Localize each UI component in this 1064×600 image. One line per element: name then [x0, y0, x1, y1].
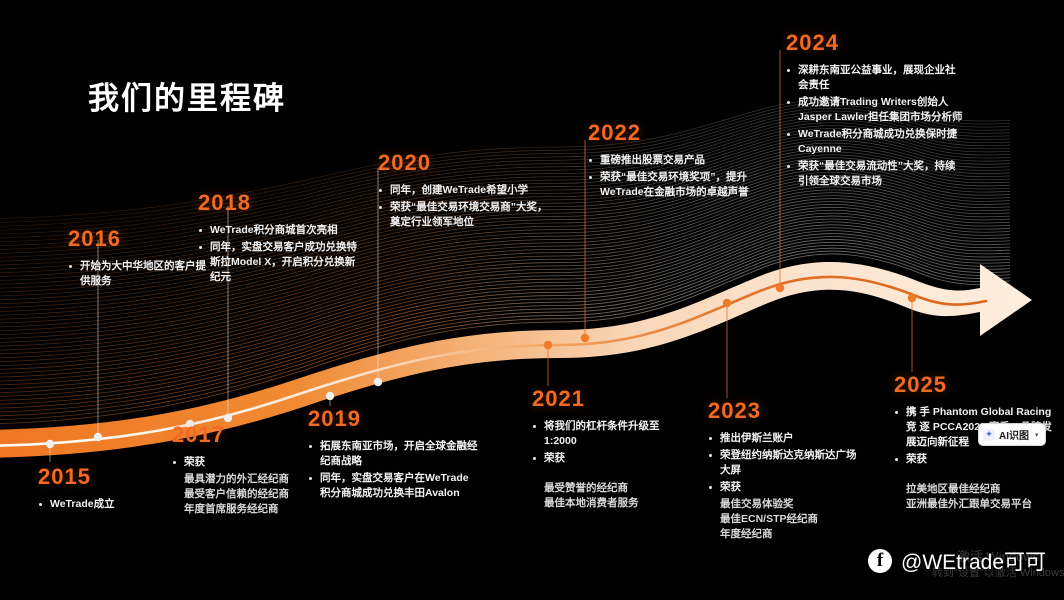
milestone-bullets-2018: WeTrade积分商城首次亮相 同年，实盘交易客户成功兑换特斯拉Model X，…: [198, 223, 358, 285]
milestone-node-dot: [544, 341, 552, 349]
milestone-year-2017: 2017: [172, 424, 324, 446]
milestone-node-dot: [326, 392, 334, 400]
milestone-2023: 2023 推出伊斯兰账户 荣登纽约纳斯达克纳斯达广场大屏 荣获 最佳交易体验奖 …: [708, 400, 858, 542]
milestone-bullets-2024: 深耕东南亚公益事业，展现企业社会责任 成功邀请Trading Writers创始…: [786, 63, 964, 189]
list-item: 荣获: [532, 451, 682, 466]
subline: 最佳ECN/STP经纪商: [708, 512, 858, 527]
subline: 最受客户信赖的经纪商: [172, 487, 324, 502]
milestone-year-2018: 2018: [198, 192, 358, 214]
milestone-node-dot: [723, 299, 731, 307]
list-item: 同年，实盘交易客户在WeTrade积分商城成功兑换丰田Avalon: [308, 471, 478, 501]
list-item: 荣获: [708, 480, 858, 495]
list-item: 重磅推出股票交易产品: [588, 153, 768, 168]
sparkle-icon: ✦: [983, 429, 995, 441]
list-item: 将我们的杠杆条件升级至1:2000: [532, 419, 682, 449]
list-item: 荣获“最佳交易环境交易商”大奖，奠定行业领军地位: [378, 200, 548, 230]
milestone-2018: 2018 WeTrade积分商城首次亮相 同年，实盘交易客户成功兑换特斯拉Mod…: [198, 192, 358, 287]
subline: 最具潜力的外汇经纪商: [172, 472, 324, 487]
milestone-2015: 2015 WeTrade成立: [38, 466, 193, 514]
milestone-bullets-2019: 拓展东南亚市场，开启全球金融经纪商战略 同年，实盘交易客户在WeTrade积分商…: [308, 439, 478, 501]
milestone-sublines-2017: 最具潜力的外汇经纪商 最受客户信赖的经纪商 年度首席服务经纪商: [172, 472, 324, 517]
chevron-down-icon[interactable]: ▾: [1035, 431, 1039, 439]
list-item: 荣获: [172, 455, 324, 470]
list-item: 荣登纽约纳斯达克纳斯达广场大屏: [708, 448, 858, 478]
milestone-node-dot: [46, 440, 54, 448]
brand-watermark: f @WEtrade可可: [868, 546, 1046, 576]
list-item: 荣获“最佳交易环境奖项”，提升WeTrade在金融市场的卓越声誉: [588, 170, 768, 200]
list-item: WeTrade积分商城首次亮相: [198, 223, 358, 238]
list-item: 荣获: [894, 452, 1054, 467]
subline: 年度首席服务经纪商: [172, 502, 324, 517]
subline: 最受赞誉的经纪商: [532, 481, 682, 496]
milestone-year-2020: 2020: [378, 152, 548, 174]
list-item: 开始为大中华地区的客户提供服务: [68, 259, 208, 289]
milestone-2021: 2021 将我们的杠杆条件升级至1:2000 荣获 最受赞誉的经纪商 最佳本地消…: [532, 388, 682, 511]
milestone-year-2019: 2019: [308, 408, 478, 430]
list-item: 拓展东南亚市场，开启全球金融经纪商战略: [308, 439, 478, 469]
ai-image-recognition-button[interactable]: ✦ AI识图 ▾: [978, 423, 1046, 446]
spacer: [894, 469, 1054, 480]
milestone-2024: 2024 深耕东南亚公益事业，展现企业社会责任 成功邀请Trading Writ…: [786, 32, 964, 191]
milestone-node-dot: [374, 378, 382, 386]
milestone-bullets-2020: 同年，创建WeTrade希望小学 荣获“最佳交易环境交易商”大奖，奠定行业领军地…: [378, 183, 548, 230]
subline: 最佳本地消费者服务: [532, 496, 682, 511]
subline: 最佳交易体验奖: [708, 497, 858, 512]
milestone-sublines-2021: 最受赞誉的经纪商 最佳本地消费者服务: [532, 481, 682, 511]
milestone-node-dot: [581, 334, 589, 342]
milestone-bullets-2021: 将我们的杠杆条件升级至1:2000 荣获: [532, 419, 682, 466]
list-item: 成功邀请Trading Writers创始人Jasper Lawler担任集团市…: [786, 95, 964, 125]
milestone-bullets-2017: 荣获: [172, 455, 324, 470]
milestone-node-dot: [908, 294, 916, 302]
milestone-sublines-2025: 拉美地区最佳经纪商 亚洲最佳外汇跟单交易平台: [894, 482, 1054, 512]
milestone-sublines-2023: 最佳交易体验奖 最佳ECN/STP经纪商 年度经纪商: [708, 497, 858, 542]
milestone-year-2023: 2023: [708, 400, 858, 422]
milestone-bullets-2023: 推出伊斯兰账户 荣登纽约纳斯达克纳斯达广场大屏 荣获: [708, 431, 858, 495]
milestone-year-2022: 2022: [588, 122, 768, 144]
milestone-2019: 2019 拓展东南亚市场，开启全球金融经纪商战略 同年，实盘交易客户在WeTra…: [308, 408, 478, 503]
milestone-bullets-2015: WeTrade成立: [38, 497, 193, 512]
milestone-year-2025: 2025: [894, 374, 1054, 396]
milestone-node-dot: [224, 414, 232, 422]
milestone-year-2015: 2015: [38, 466, 193, 488]
list-item: 同年，实盘交易客户成功兑换特斯拉Model X，开启积分兑换新纪元: [198, 240, 358, 285]
list-item: 荣获“最佳交易流动性”大奖，持续引领全球交易市场: [786, 159, 964, 189]
milestone-2020: 2020 同年，创建WeTrade希望小学 荣获“最佳交易环境交易商”大奖，奠定…: [378, 152, 548, 232]
milestone-year-2021: 2021: [532, 388, 682, 410]
timeline-ribbon: [0, 262, 1032, 458]
milestone-year-2016: 2016: [68, 228, 208, 250]
watermark-handle: @WEtrade可可: [901, 546, 1046, 576]
page-title: 我们的里程碑: [88, 73, 286, 118]
milestone-2022: 2022 重磅推出股票交易产品 荣获“最佳交易环境奖项”，提升WeTrade在金…: [588, 122, 768, 202]
milestone-bullets-2022: 重磅推出股票交易产品 荣获“最佳交易环境奖项”，提升WeTrade在金融市场的卓…: [588, 153, 768, 200]
subline: 年度经纪商: [708, 527, 858, 542]
subline: 亚洲最佳外汇跟单交易平台: [894, 497, 1054, 512]
list-item: WeTrade成立: [38, 497, 193, 512]
milestone-node-dot: [94, 433, 102, 441]
list-item: 深耕东南亚公益事业，展现企业社会责任: [786, 63, 964, 93]
milestone-year-2024: 2024: [786, 32, 964, 54]
ai-pill-label: AI识图: [999, 427, 1029, 442]
list-item: WeTrade积分商城成功兑换保时捷Cayenne: [786, 127, 964, 157]
milestone-2017: 2017 荣获 最具潜力的外汇经纪商 最受客户信赖的经纪商 年度首席服务经纪商: [172, 424, 324, 517]
subline: 拉美地区最佳经纪商: [894, 482, 1054, 497]
spacer: [532, 468, 682, 479]
list-item: 推出伊斯兰账户: [708, 431, 858, 446]
facebook-icon: f: [868, 549, 892, 573]
list-item: 同年，创建WeTrade希望小学: [378, 183, 548, 198]
milestone-node-dot: [776, 284, 784, 292]
milestone-bullets-2016: 开始为大中华地区的客户提供服务: [68, 259, 208, 289]
infographic-canvas: 我们的里程碑 2015 WeTrade成立 2016 开始为大中华地区的客户提供…: [0, 0, 1064, 600]
milestone-2016: 2016 开始为大中华地区的客户提供服务: [68, 228, 208, 291]
